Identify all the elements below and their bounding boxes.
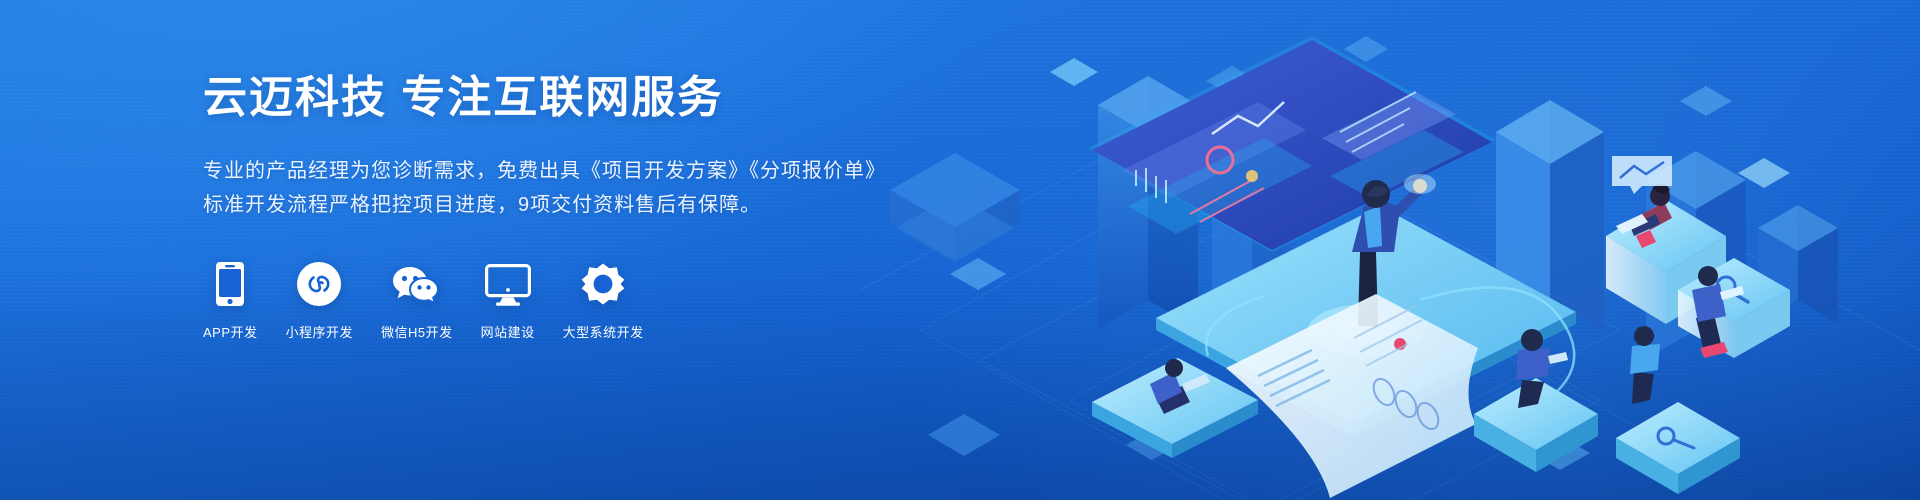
banner-copy: 云迈科技 专注互联网服务 专业的产品经理为您诊断需求，免费出具《项目开发方案》《… bbox=[203, 72, 963, 341]
subtitle-line-2: 标准开发流程严格把控项目进度，9项交付资料售后有保障。 bbox=[203, 188, 963, 222]
service-label-website: 网站建设 bbox=[481, 322, 535, 341]
wechat-chat-bubbles-icon bbox=[392, 260, 442, 306]
service-item-wechat-h5[interactable]: 微信H5开发 bbox=[381, 260, 453, 341]
bottom-right-pedestal bbox=[1616, 402, 1740, 494]
service-label-large-system: 大型系统开发 bbox=[563, 322, 644, 341]
subtitle-list: 专业的产品经理为您诊断需求，免费出具《项目开发方案》《分项报价单》 标准开发流程… bbox=[203, 154, 963, 222]
service-list: APP开发 小程序开发 bbox=[203, 260, 963, 341]
subtitle-line-1: 专业的产品经理为您诊断需求，免费出具《项目开发方案》《分项报价单》 bbox=[203, 154, 963, 188]
service-label-app: APP开发 bbox=[203, 322, 258, 341]
service-label-miniprogram: 小程序开发 bbox=[286, 322, 354, 341]
service-label-wechat-h5: 微信H5开发 bbox=[381, 322, 453, 341]
mobile-phone-icon bbox=[216, 260, 244, 306]
service-item-large-system[interactable]: 大型系统开发 bbox=[563, 260, 644, 341]
hero-banner: 云迈科技 专注互联网服务 专业的产品经理为您诊断需求，免费出具《项目开发方案》《… bbox=[0, 0, 1920, 500]
service-item-miniprogram[interactable]: 小程序开发 bbox=[286, 260, 354, 341]
wechat-miniprogram-icon bbox=[297, 260, 341, 306]
isometric-illustration bbox=[860, 0, 1920, 500]
service-item-website[interactable]: 网站建设 bbox=[481, 260, 535, 341]
desktop-monitor-icon bbox=[485, 260, 531, 306]
service-item-app[interactable]: APP开发 bbox=[203, 260, 258, 341]
page-title: 云迈科技 专注互联网服务 bbox=[203, 72, 963, 124]
gear-icon bbox=[581, 260, 625, 306]
